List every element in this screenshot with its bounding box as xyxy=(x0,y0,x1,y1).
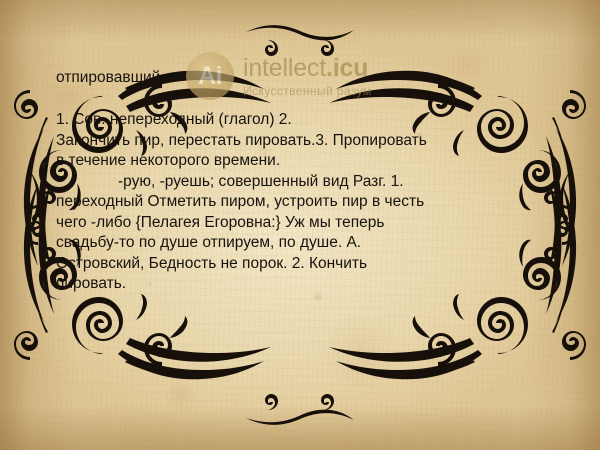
border-wave-top xyxy=(246,25,354,56)
definition-line: Островский, Бедность не порок. 2. Кончит… xyxy=(56,254,546,275)
definition-line: пировать. xyxy=(56,274,546,295)
definition-line: Закончить пир, перестать пировать.3. Про… xyxy=(56,131,546,152)
dictionary-content: отпировавший 1. Сов. непереходный (глаго… xyxy=(56,68,546,295)
definition-line: свадьбу-то по душе отпируем, по душе. А. xyxy=(56,233,546,254)
definition-line: в течение некоторого времени. xyxy=(56,151,546,172)
dictionary-card: Ai intellect.icu Искусственный разум отп… xyxy=(0,0,600,450)
headword: отпировавший xyxy=(56,68,546,88)
definition-line: -рую, -руешь; совершенный вид Разг. 1. xyxy=(56,172,546,193)
definition-line: 1. Сов. непереходный (глагол) 2. xyxy=(56,110,546,131)
definition-line: переходный Отметить пиром, устроить пир … xyxy=(56,192,546,213)
definition-body: 1. Сов. непереходный (глагол) 2. Закончи… xyxy=(56,110,546,295)
definition-line: чего -либо {Пелагея Егоровна:} Уж мы теп… xyxy=(56,213,546,234)
border-wave-bottom xyxy=(246,394,354,425)
